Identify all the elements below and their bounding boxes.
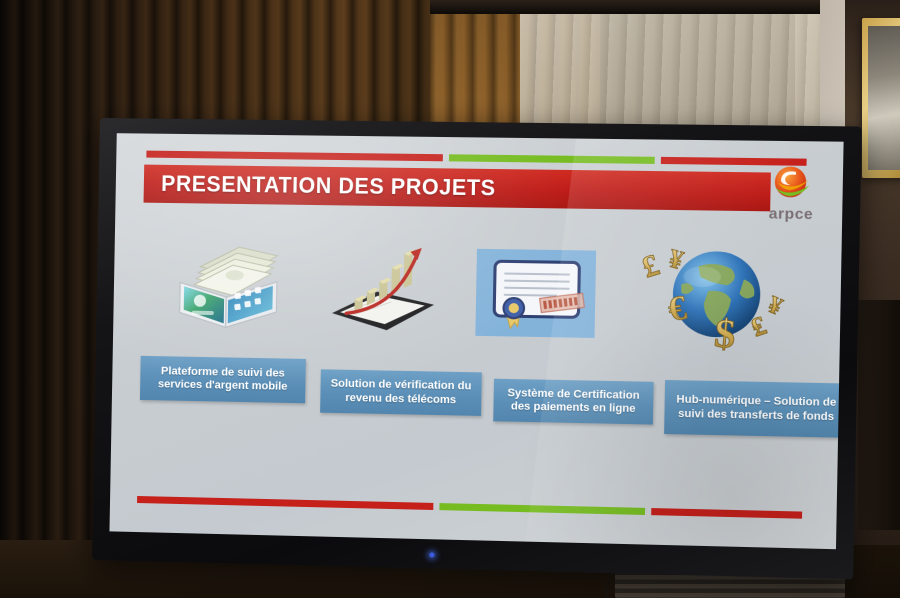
project-caption-4: Hub-numérique – Solution de suivi des tr… [664, 380, 844, 438]
rule-segment-green-bottom [439, 503, 645, 515]
top-rule [146, 151, 806, 166]
speaker-column [858, 300, 900, 530]
bottom-rule [137, 496, 802, 519]
framed-picture-canvas [868, 26, 900, 170]
presentation-slide: PRESENTATION DES PROJETS [109, 133, 843, 549]
arpce-logo: arpce [754, 163, 828, 225]
certificate-seal-image [475, 247, 596, 342]
project-caption-2: Solution de vérification du revenu des t… [320, 369, 482, 416]
smartphone-with-banknotes-image [163, 230, 291, 334]
globe-currency-symbols-image: £ ¥ € $ ₤ ¥ [635, 237, 793, 352]
page-title: PRESENTATION DES PROJETS [144, 171, 496, 202]
rule-segment-red-left [146, 151, 443, 162]
svg-text:£: £ [638, 248, 663, 285]
curtain-rod [430, 0, 820, 14]
rule-segment-red-left-bottom [137, 496, 433, 510]
slide-title-banner: PRESENTATION DES PROJETS [144, 165, 771, 212]
project-caption-1: Plateforme de suivi des services d'argen… [140, 356, 306, 403]
arpce-wordmark: arpce [754, 205, 827, 223]
svg-text:¥: ¥ [764, 292, 786, 321]
rule-segment-green [449, 154, 655, 164]
power-led-icon [429, 552, 434, 557]
rule-segment-red-right-bottom [651, 508, 802, 519]
project-images-row: £ ¥ € $ ₤ ¥ [113, 229, 842, 363]
arpce-swoosh-globe-icon [767, 163, 816, 205]
television: PRESENTATION DES PROJETS [92, 118, 862, 579]
svg-text:$: $ [713, 310, 738, 352]
tablet-growth-chart-image [319, 240, 445, 339]
project-caption-3: Système de Certification des paiements e… [493, 379, 653, 425]
